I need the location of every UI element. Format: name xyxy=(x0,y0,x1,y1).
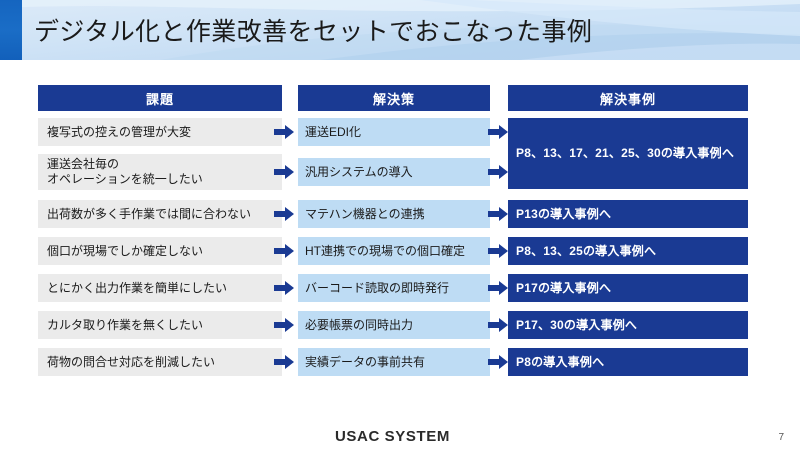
arrow-issue-to-solution-icon xyxy=(274,281,294,295)
case-text: P17の導入事例へ xyxy=(516,281,611,296)
issue-cell: 複写式の控えの管理が大変 xyxy=(38,118,282,146)
column-header-case: 解決事例 xyxy=(508,85,748,111)
solution-cell: HT連携での現場での個口確定 xyxy=(298,237,490,265)
case-text: P8、13、25の導入事例へ xyxy=(516,244,656,259)
case-text: P13の導入事例へ xyxy=(516,207,611,222)
arrow-solution-to-case-icon xyxy=(488,207,508,221)
table-body: 複写式の控えの管理が大変 運送EDI化 P8、13、17、21、25、30の導入… xyxy=(0,118,800,388)
arrow-solution-to-case-icon xyxy=(488,355,508,369)
case-cell[interactable]: P13の導入事例へ xyxy=(508,200,748,228)
arrow-issue-to-solution-icon xyxy=(274,355,294,369)
issue-cell: 荷物の問合せ対応を削減したい xyxy=(38,348,282,376)
solution-cell: 実績データの事前共有 xyxy=(298,348,490,376)
arrow-issue-to-solution-icon xyxy=(274,125,294,139)
case-cell-merged[interactable]: P8、13、17、21、25、30の導入事例へ xyxy=(508,118,748,189)
case-cell[interactable]: P8の導入事例へ xyxy=(508,348,748,376)
arrow-solution-to-case-icon xyxy=(488,244,508,258)
solution-cell: 必要帳票の同時出力 xyxy=(298,311,490,339)
arrow-issue-to-solution-icon xyxy=(274,244,294,258)
solution-cell: 運送EDI化 xyxy=(298,118,490,146)
page-title: デジタル化と作業改善をセットでおこなった事例 xyxy=(34,8,592,52)
solution-text: バーコード読取の即時発行 xyxy=(305,281,449,296)
issue-cell: 出荷数が多く手作業では間に合わない xyxy=(38,200,282,228)
issue-cell: カルタ取り作業を無くしたい xyxy=(38,311,282,339)
issue-text: 運送会社毎の オペレーションを統一したい xyxy=(47,157,203,187)
company-logo: USAC SYSTEM xyxy=(335,428,450,445)
issue-text: とにかく出力作業を簡単にしたい xyxy=(47,281,227,296)
issue-text: 個口が現場でしか確定しない xyxy=(47,244,203,259)
solution-cell: 汎用システムの導入 xyxy=(298,158,490,186)
arrow-issue-to-solution-icon xyxy=(274,318,294,332)
issue-text: 荷物の問合せ対応を削減したい xyxy=(47,355,215,370)
solution-text: 実績データの事前共有 xyxy=(305,355,425,370)
case-cell[interactable]: P17、30の導入事例へ xyxy=(508,311,748,339)
arrow-issue-to-solution-icon xyxy=(274,165,294,179)
arrow-solution-to-case-icon xyxy=(488,318,508,332)
arrow-issue-to-solution-icon xyxy=(274,207,294,221)
solution-cell: マテハン機器との連携 xyxy=(298,200,490,228)
issue-cell: 運送会社毎の オペレーションを統一したい xyxy=(38,154,282,190)
slide-header: デジタル化と作業改善をセットでおこなった事例 xyxy=(0,0,800,60)
column-header-solution: 解決策 xyxy=(298,85,490,111)
solution-text: HT連携での現場での個口確定 xyxy=(305,244,465,259)
header-accent-bar xyxy=(0,0,22,60)
slide: デジタル化と作業改善をセットでおこなった事例 課題 解決策 解決事例 複写式の控… xyxy=(0,0,800,450)
issue-text: カルタ取り作業を無くしたい xyxy=(47,318,203,333)
case-text: P17、30の導入事例へ xyxy=(516,318,637,333)
solution-text: 必要帳票の同時出力 xyxy=(305,318,413,333)
case-cell[interactable]: P17の導入事例へ xyxy=(508,274,748,302)
issue-cell: 個口が現場でしか確定しない xyxy=(38,237,282,265)
solution-text: マテハン機器との連携 xyxy=(305,207,425,222)
issue-text: 複写式の控えの管理が大変 xyxy=(47,125,191,140)
case-cell[interactable]: P8、13、25の導入事例へ xyxy=(508,237,748,265)
column-header-issue: 課題 xyxy=(38,85,282,111)
case-text: P8の導入事例へ xyxy=(516,355,604,370)
solution-text: 汎用システムの導入 xyxy=(305,165,413,180)
issue-text: 出荷数が多く手作業では間に合わない xyxy=(47,207,251,222)
issue-cell: とにかく出力作業を簡単にしたい xyxy=(38,274,282,302)
arrow-solution-to-case-icon xyxy=(488,165,508,179)
solution-cell: バーコード読取の即時発行 xyxy=(298,274,490,302)
page-number: 7 xyxy=(778,432,784,443)
arrow-solution-to-case-icon xyxy=(488,281,508,295)
arrow-solution-to-case-icon xyxy=(488,125,508,139)
case-text: P8、13、17、21、25、30の導入事例へ xyxy=(516,146,734,161)
solution-text: 運送EDI化 xyxy=(305,125,361,140)
